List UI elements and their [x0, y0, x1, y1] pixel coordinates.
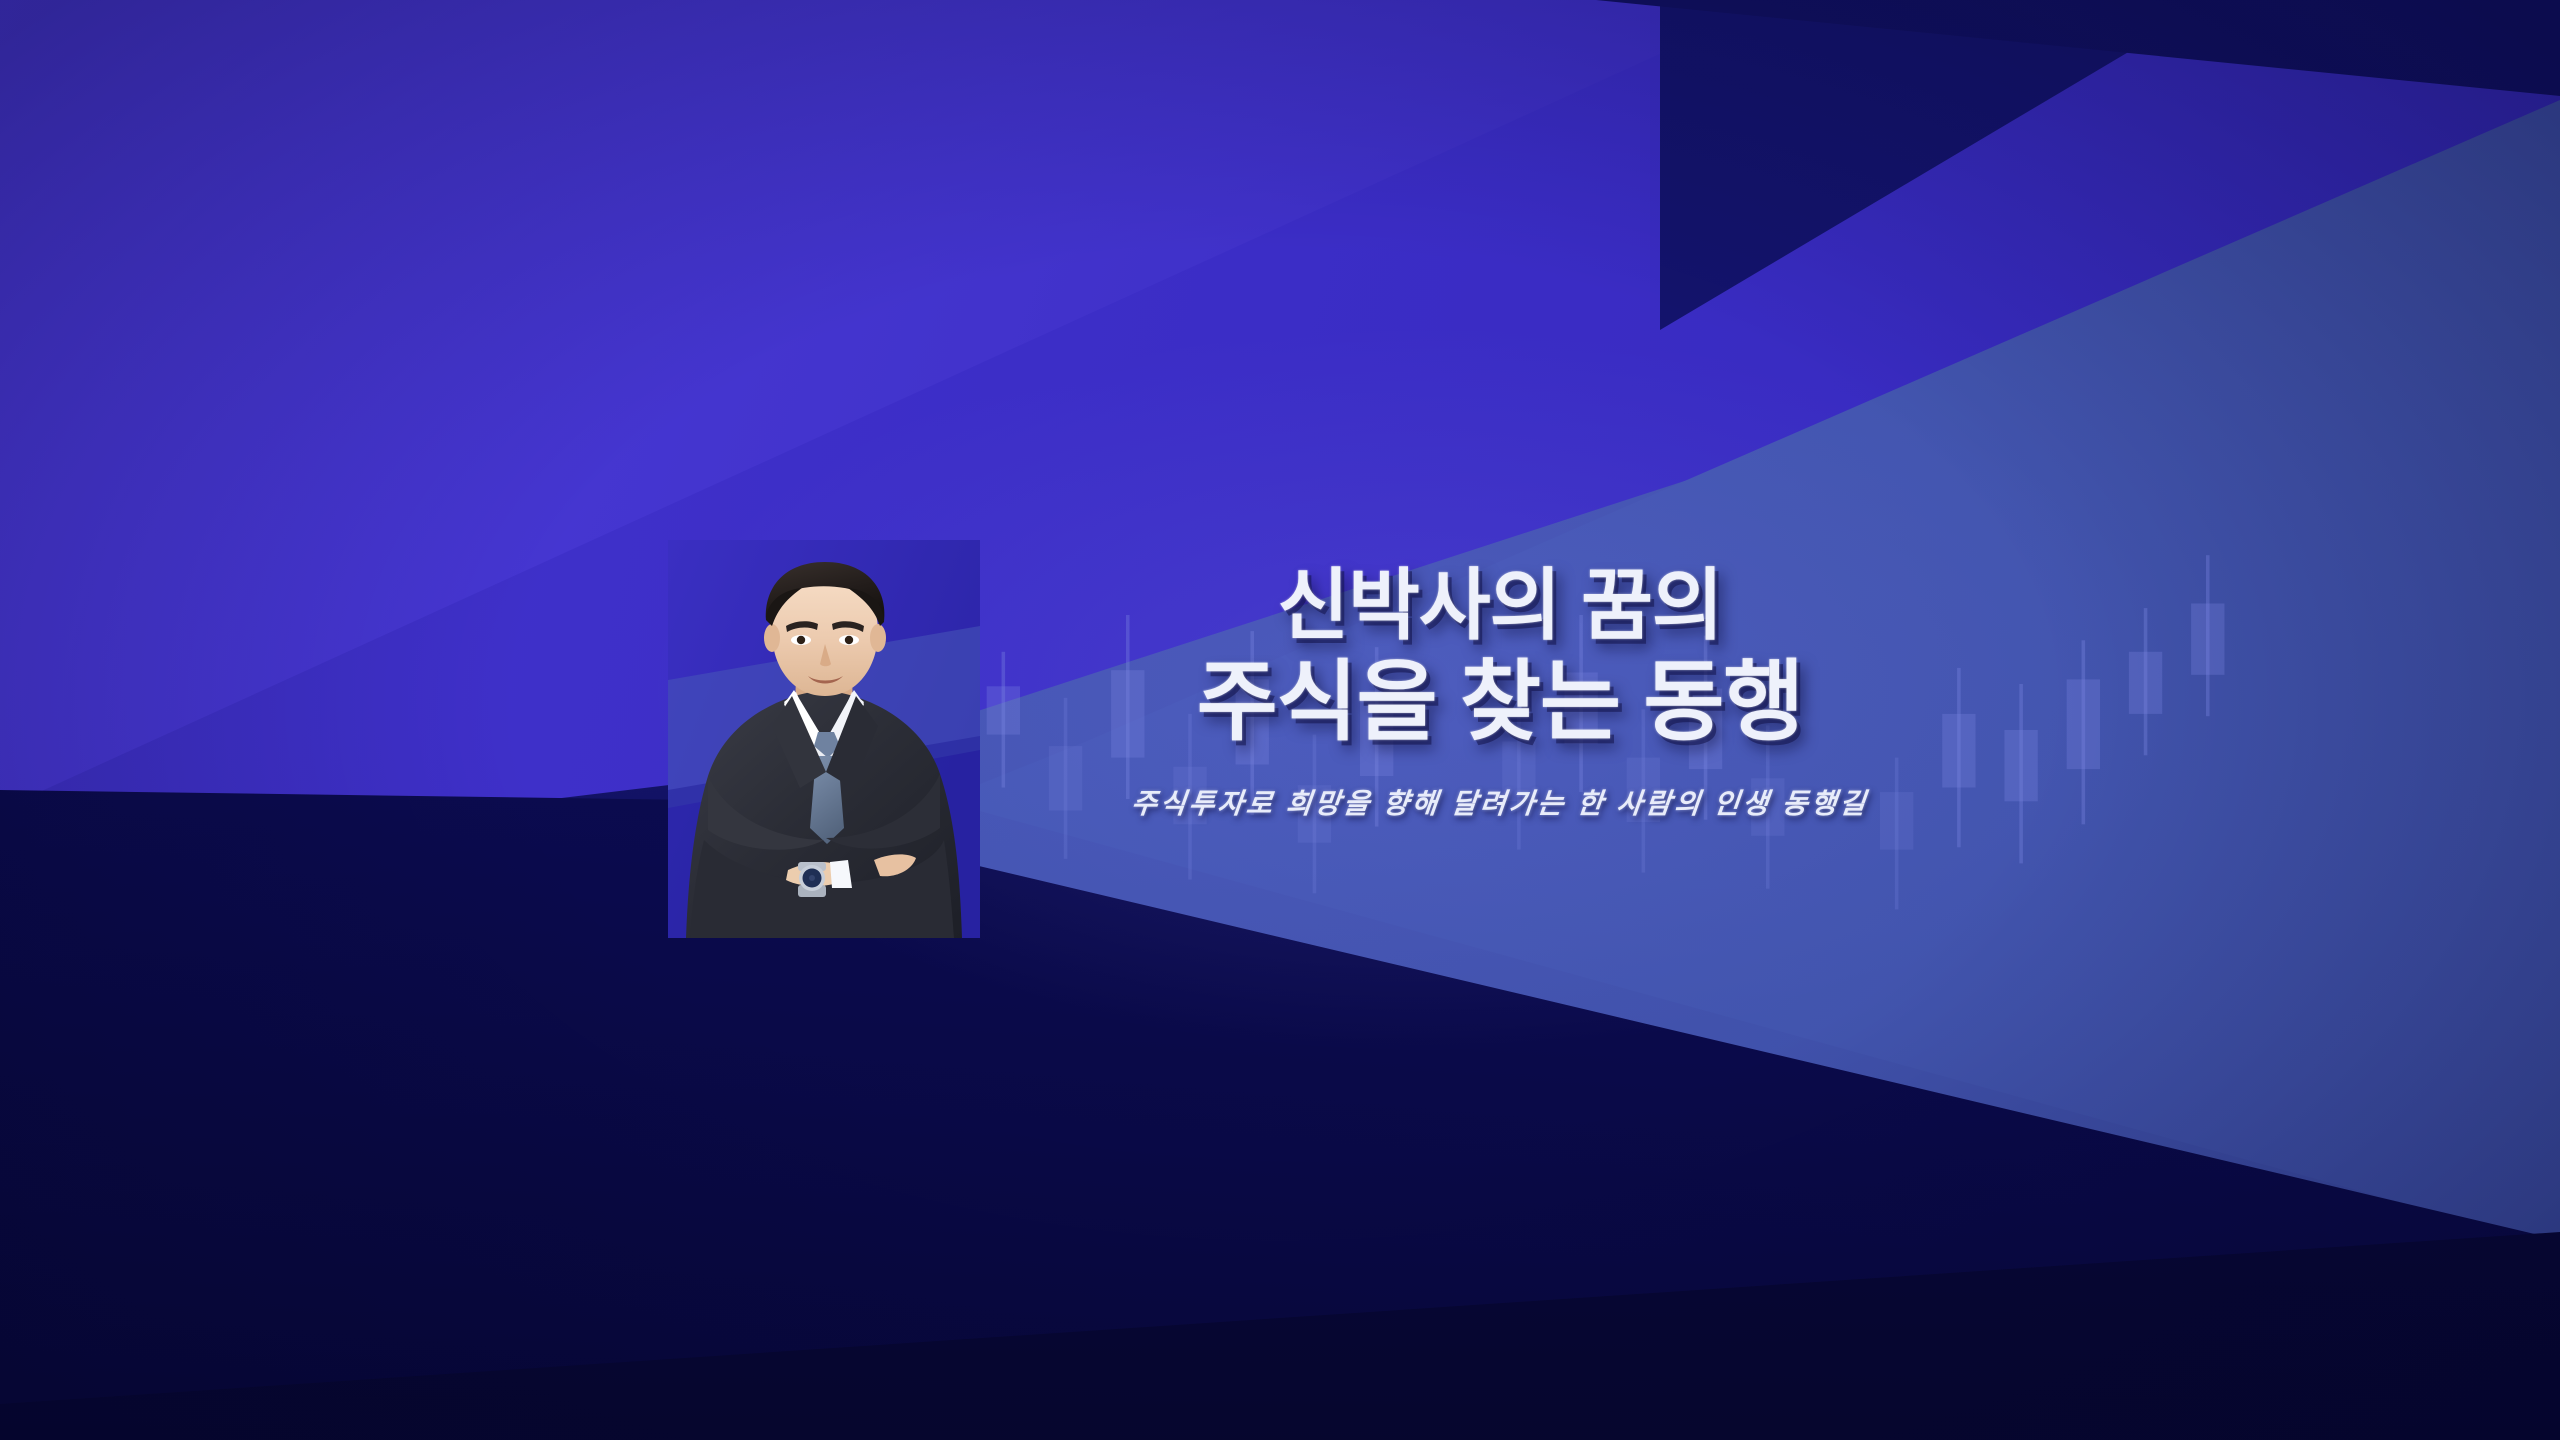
iris-left [797, 636, 805, 644]
watch-dial-center [809, 875, 815, 881]
promo-banner: 신박사의 꿈의 주식을 찾는 동행 주식투자로 희망을 향해 달려가는 한 사람… [0, 0, 2560, 1440]
title-line-1: 신박사의 꿈의 [1060, 566, 1940, 644]
portrait-illustration [668, 540, 980, 938]
ear-right [870, 624, 886, 652]
host-portrait-photo [668, 540, 980, 938]
subtitle-tagline: 주식투자로 희망을 향해 달려가는 한 사람의 인생 동행길 [1058, 782, 1942, 822]
title-line-2: 주식을 찾는 동행 [1060, 658, 1940, 746]
title-block: 신박사의 꿈의 주식을 찾는 동행 주식투자로 희망을 향해 달려가는 한 사람… [1060, 566, 1940, 822]
wristwatch [798, 862, 826, 897]
ear-left [764, 624, 780, 652]
iris-right [845, 636, 853, 644]
